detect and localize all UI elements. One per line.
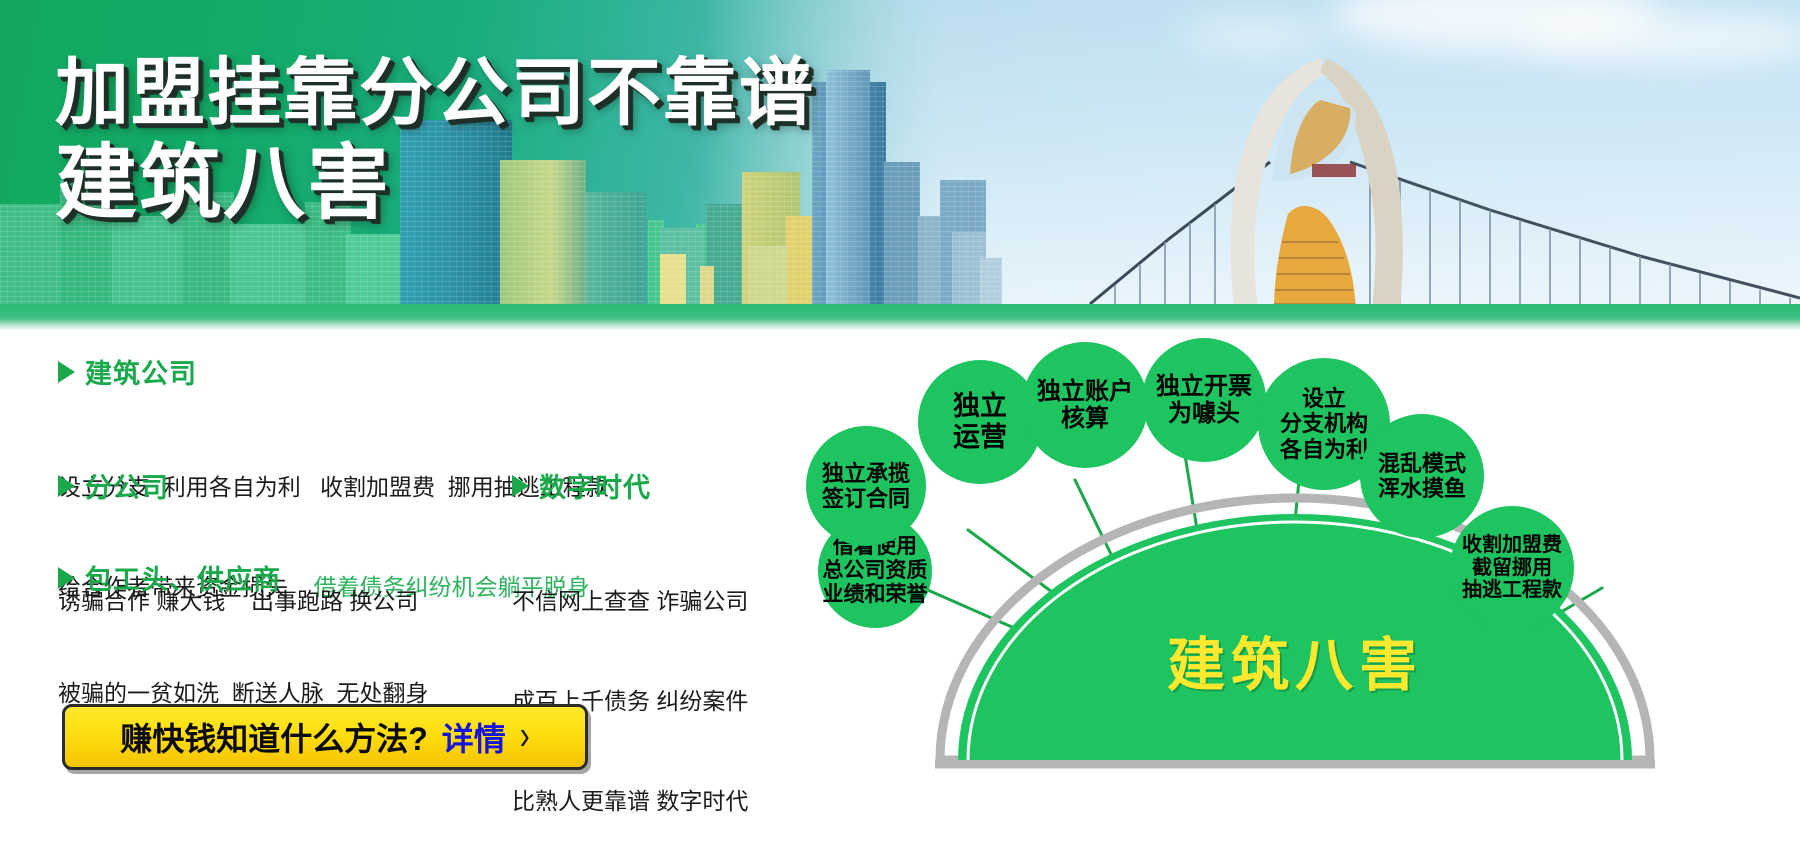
- bubble-independent-contracting[interactable]: 独立承揽 签订合同: [806, 426, 926, 546]
- arch-bridge-icon: [1020, 42, 1800, 312]
- dome-label: 建筑八害: [790, 618, 1800, 702]
- bubble-independent-account[interactable]: 独立账户 核算: [1022, 342, 1148, 468]
- section-body: 不信网上查查 诈骗公司 成百上千债务 纠纷案件 比熟人更靠谱 数字时代: [512, 518, 748, 844]
- bubble-harvest-franchise-fee[interactable]: 收割加盟费 截留挪用 抽逃工程款: [1450, 506, 1574, 630]
- cta-main-label: 赚快钱知道什么方法?: [120, 714, 428, 760]
- section-header: 数字时代: [512, 466, 748, 505]
- section-digital-era: 数字时代 不信网上查查 诈骗公司 成百上千债务 纠纷案件 比熟人更靠谱 数字时代: [512, 466, 748, 844]
- chevron-right-icon: ›: [520, 717, 530, 758]
- hero-title-line1: 加盟挂靠分公司不靠谱: [55, 55, 815, 130]
- hero-title: 加盟挂靠分公司不靠谱 建筑八害: [55, 55, 815, 226]
- section-title: 分公司: [85, 466, 169, 505]
- cta-link-label[interactable]: 详情: [442, 714, 506, 760]
- ground-fade: [0, 320, 1800, 330]
- infographic: 建筑八害 借着使用 总公司资质 业绩和荣誉 独立承揽 签订合同 独立 运营 独立…: [790, 330, 1800, 844]
- hero-title-line2: 建筑八害: [55, 142, 815, 226]
- triangle-right-icon: [58, 475, 75, 497]
- section-line: 比熟人更靠谱 数字时代: [512, 788, 748, 814]
- left-content-column: 建筑公司 设立分支 利用各自为利 收割加盟费 挪用抽逃工程款 给合作者带来资金损…: [0, 330, 800, 844]
- section-line: 不信网上查查 诈骗公司: [512, 588, 748, 614]
- section-header: 建筑公司: [58, 352, 609, 391]
- poster-root: 加盟挂靠分公司不靠谱 建筑八害 建筑公司 设立分支 利用各自为利 收割加盟费 挪…: [0, 0, 1800, 844]
- section-title: 数字时代: [539, 466, 651, 505]
- section-title: 建筑公司: [85, 352, 197, 391]
- hero-banner: 加盟挂靠分公司不靠谱 建筑八害: [0, 0, 1800, 330]
- section-header: 分公司: [58, 466, 418, 505]
- triangle-right-icon: [58, 361, 75, 383]
- cta-button[interactable]: 赚快钱知道什么方法? 详情 ›: [62, 704, 588, 770]
- section-header: 包工头、供应商: [58, 558, 429, 597]
- bubble-chaotic-mode[interactable]: 混乱模式 浑水摸鱼: [1360, 414, 1484, 538]
- bubble-independent-invoice[interactable]: 独立开票 为噱头: [1142, 338, 1266, 462]
- section-title: 包工头、供应商: [85, 558, 281, 597]
- triangle-right-icon: [58, 567, 75, 589]
- triangle-right-icon: [512, 475, 529, 497]
- section-line: 被骗的一贫如洗 断送人脉 无处翻身: [58, 680, 429, 706]
